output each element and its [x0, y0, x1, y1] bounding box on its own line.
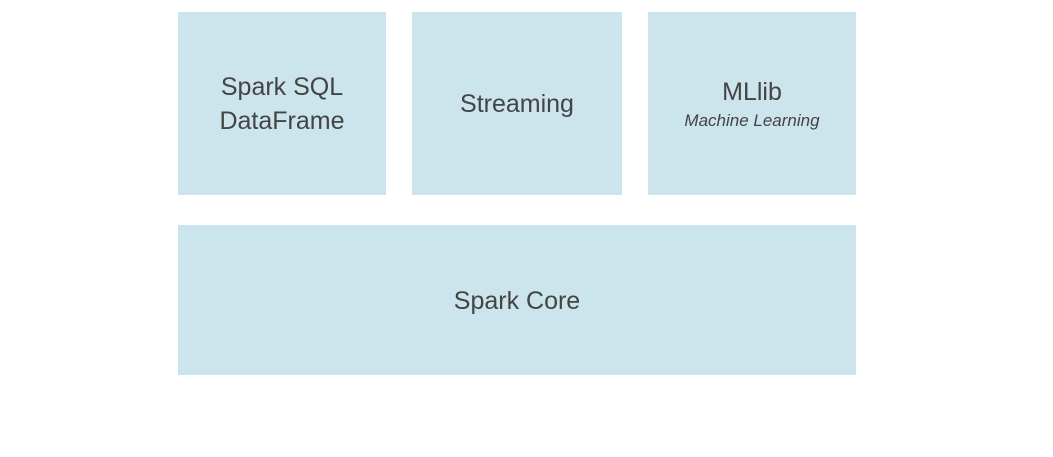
- block-spark-sql: Spark SQL DataFrame: [178, 12, 386, 195]
- block-spark-core-title: Spark Core: [454, 285, 580, 317]
- block-mllib-title: MLlib: [722, 75, 782, 109]
- block-streaming: Streaming: [412, 12, 622, 195]
- block-streaming-title: Streaming: [460, 87, 574, 121]
- spark-stack-diagram: Spark SQL DataFrame Streaming MLlib Mach…: [0, 0, 1053, 457]
- block-spark-core: Spark Core: [178, 225, 856, 375]
- block-spark-sql-title-line1: Spark SQL: [221, 70, 343, 104]
- block-mllib-subtitle: Machine Learning: [684, 109, 819, 133]
- block-mllib: MLlib Machine Learning: [648, 12, 856, 195]
- block-spark-sql-title-line2: DataFrame: [219, 104, 344, 138]
